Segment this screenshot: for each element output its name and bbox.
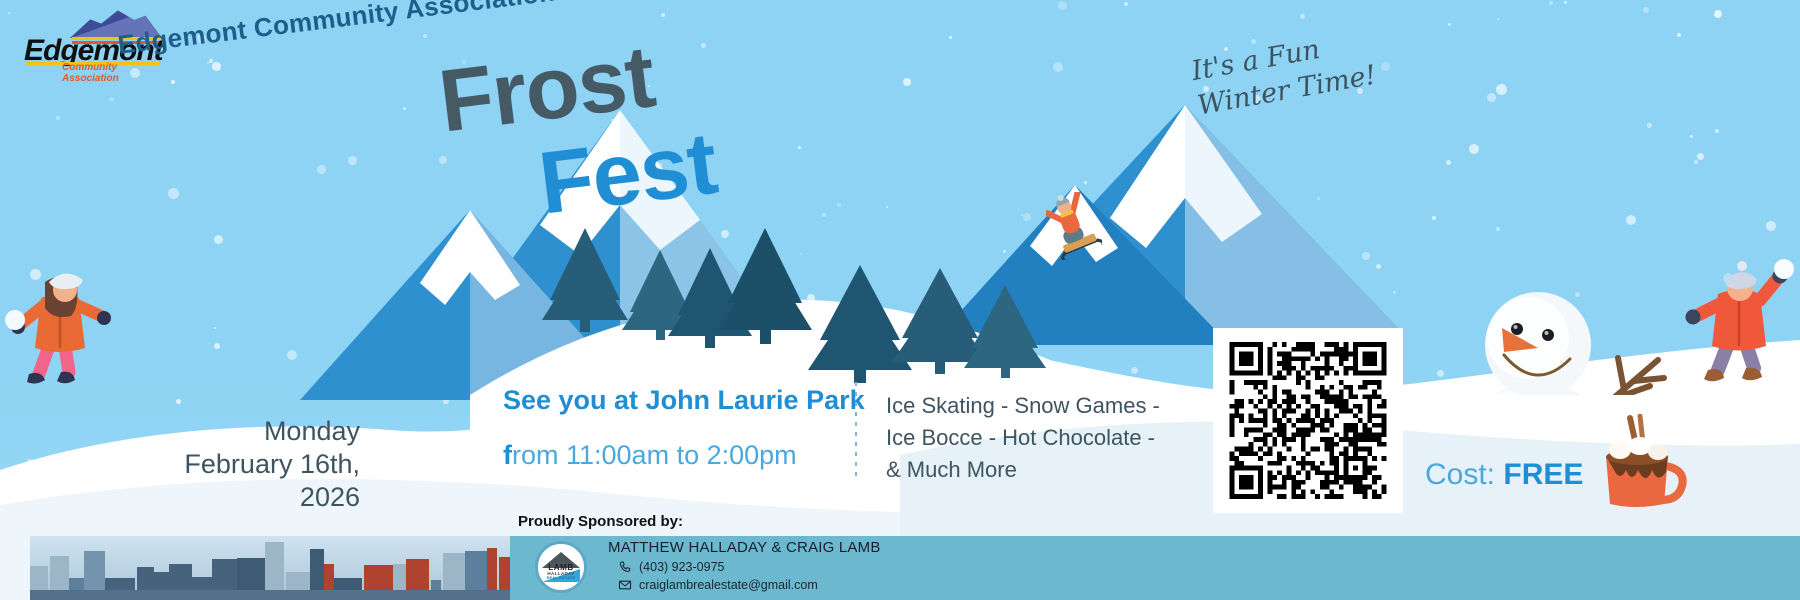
activity-line-3: & Much More — [886, 454, 1160, 486]
sponsor-name: MATTHEW HALLADAY & CRAIG LAMB — [608, 539, 881, 556]
date-line-1: Monday — [110, 415, 360, 448]
activities-list: Ice Skating - Snow Games - Ice Bocce - H… — [886, 390, 1160, 486]
date-line-2: February 16th, — [110, 448, 360, 481]
calgary-skyline-image — [30, 536, 510, 600]
snowball-thrower-left-icon — [5, 262, 115, 392]
sponsor-email-text: craiglambrealestate@gmail.com — [639, 578, 818, 592]
logo-subtitle: Community Association — [62, 62, 174, 84]
sponsor-email-row[interactable]: craiglambrealestate@gmail.com — [618, 578, 818, 592]
lamb-halladay-logo: LAMB HALLADAY REAL ESTATE — [535, 541, 587, 593]
date-line-3: 2026 — [110, 481, 360, 514]
cost-value: FREE — [1503, 458, 1583, 491]
badge-line-3: REAL ESTATE — [542, 576, 580, 580]
cost-info: Cost: FREE — [1425, 458, 1583, 492]
frost-fest-poster: Edgemont Community Association Edgemont … — [0, 0, 1800, 600]
event-date: Monday February 16th, 2026 — [110, 415, 360, 514]
sledding-person-icon — [1046, 192, 1102, 260]
activity-line-1: Ice Skating - Snow Games - — [886, 390, 1160, 422]
cost-label: Cost: — [1425, 458, 1495, 491]
snowball-thrower-right-icon — [1680, 258, 1795, 398]
hot-chocolate-icon — [1596, 414, 1696, 510]
event-venue: See you at John Laurie Park — [503, 385, 865, 416]
title-fest: Fest — [535, 119, 721, 228]
envelope-icon — [618, 578, 632, 592]
phone-icon — [618, 560, 632, 574]
sponsor-phone-text: (403) 923-0975 — [639, 560, 724, 574]
event-time-lead: f — [503, 440, 512, 470]
qr-code-icon[interactable] — [1227, 342, 1389, 499]
event-time-rest: rom 11:00am to 2:00pm — [512, 440, 797, 470]
sponsor-label: Proudly Sponsored by: — [518, 513, 683, 530]
sponsor-phone-row[interactable]: (403) 923-0975 — [618, 560, 724, 574]
event-time: from 11:00am to 2:00pm — [503, 440, 797, 471]
activity-line-2: Ice Bocce - Hot Chocolate - — [886, 422, 1160, 454]
snowman-icon — [1420, 160, 1670, 395]
vertical-divider — [855, 382, 857, 482]
qr-code-panel[interactable] — [1213, 328, 1403, 513]
